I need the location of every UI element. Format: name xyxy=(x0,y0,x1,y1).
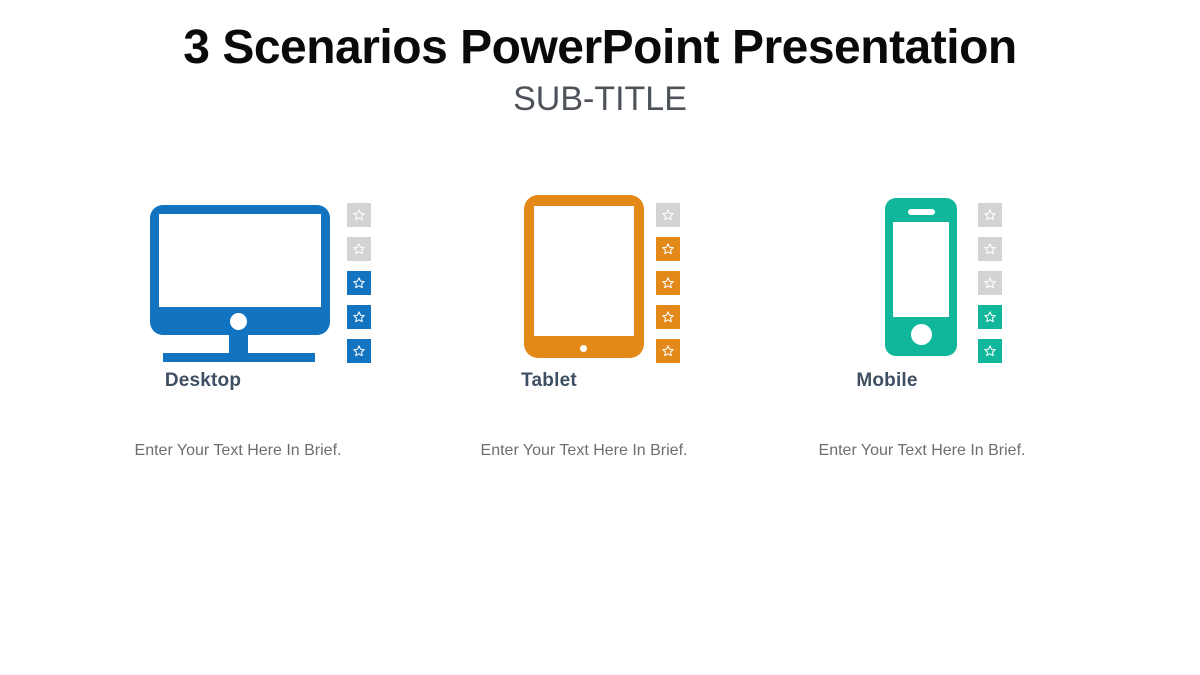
star-badge-active[interactable] xyxy=(347,305,371,329)
star-icon xyxy=(983,242,997,256)
scenario-body-mobile: Enter Your Text Here In Brief. xyxy=(722,440,1122,461)
tablet-home-dot xyxy=(580,345,587,352)
monitor-indicator-dot xyxy=(230,313,247,330)
slide-canvas: 3 Scenarios PowerPoint Presentation SUB-… xyxy=(0,0,1200,675)
rating-badges-tablet xyxy=(656,203,680,363)
star-icon xyxy=(661,276,675,290)
phone-screen xyxy=(893,222,949,317)
device-row-mobile xyxy=(722,178,1122,363)
star-badge-inactive[interactable] xyxy=(978,271,1002,295)
star-icon xyxy=(983,344,997,358)
rating-badges-mobile xyxy=(978,203,1002,363)
tablet-screen xyxy=(534,206,634,336)
star-badge-active[interactable] xyxy=(978,339,1002,363)
scenario-body-desktop: Enter Your Text Here In Brief. xyxy=(38,440,438,461)
scenario-columns: Desktop Enter Your Text Here In Brief. xyxy=(0,178,1200,508)
scenario-desktop[interactable]: Desktop Enter Your Text Here In Brief. xyxy=(38,178,438,508)
star-icon xyxy=(983,276,997,290)
star-icon xyxy=(661,242,675,256)
star-icon xyxy=(352,310,366,324)
star-badge-inactive[interactable] xyxy=(347,237,371,261)
star-badge-active[interactable] xyxy=(656,305,680,329)
tablet-icon[interactable] xyxy=(524,195,644,358)
scenario-mobile[interactable]: Mobile Enter Your Text Here In Brief. xyxy=(722,178,1122,508)
phone-speaker-slot xyxy=(908,209,935,215)
star-icon xyxy=(352,242,366,256)
star-icon xyxy=(661,208,675,222)
star-badge-inactive[interactable] xyxy=(347,203,371,227)
smartphone-icon[interactable] xyxy=(885,198,957,356)
star-icon xyxy=(983,310,997,324)
star-badge-inactive[interactable] xyxy=(978,237,1002,261)
desktop-monitor-icon[interactable] xyxy=(150,205,330,363)
star-icon xyxy=(661,310,675,324)
star-badge-inactive[interactable] xyxy=(978,203,1002,227)
star-badge-active[interactable] xyxy=(656,237,680,261)
star-badge-active[interactable] xyxy=(347,271,371,295)
page-subtitle: SUB-TITLE xyxy=(0,80,1200,119)
star-icon xyxy=(983,208,997,222)
device-row-desktop xyxy=(38,178,438,363)
star-icon xyxy=(661,344,675,358)
monitor-stand-base xyxy=(163,353,315,362)
star-badge-active[interactable] xyxy=(656,271,680,295)
star-badge-active[interactable] xyxy=(978,305,1002,329)
star-icon xyxy=(352,208,366,222)
rating-badges-desktop xyxy=(347,203,371,363)
star-icon xyxy=(352,344,366,358)
scenario-label-mobile: Mobile xyxy=(722,370,1052,392)
phone-home-button xyxy=(911,324,932,345)
star-badge-inactive[interactable] xyxy=(656,203,680,227)
star-badge-active[interactable] xyxy=(656,339,680,363)
star-badge-active[interactable] xyxy=(347,339,371,363)
star-icon xyxy=(352,276,366,290)
page-title: 3 Scenarios PowerPoint Presentation xyxy=(0,22,1200,75)
monitor-screen xyxy=(159,214,321,307)
scenario-label-tablet: Tablet xyxy=(384,370,714,392)
scenario-label-desktop: Desktop xyxy=(38,370,368,392)
